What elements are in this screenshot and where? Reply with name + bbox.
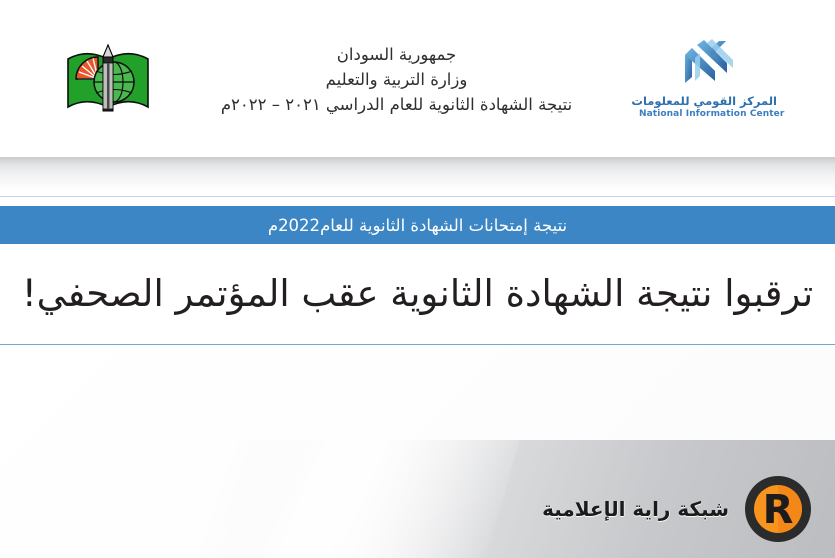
watermark: R شبكة راية الإعلامية [542,474,813,544]
watermark-strip: R شبكة راية الإعلامية [0,440,835,558]
header-title-line2: وزارة التربية والتعليم [164,67,629,92]
banner-text: نتيجة إمتحانات الشهادة الثانوية للعام202… [268,216,567,235]
thin-blue-rule [0,196,835,197]
raya-r-circle-logo-icon: R [743,474,813,544]
page-title: ترقبوا نتيجة الشهادة الثانوية عقب المؤتم… [22,271,813,317]
result-announcement-page: جمهورية السودان وزارة التربية والتعليم ن… [0,0,835,558]
nic-label-english: National Information Center [639,109,777,120]
content-area: R شبكة راية الإعلامية [0,345,835,558]
nic-label-arabic: المركز القومي للمعلومات [639,95,777,108]
header-title-line1: جمهورية السودان [164,42,629,67]
header-title-block: جمهورية السودان وزارة التربية والتعليم ن… [154,42,639,117]
raya-badge-letter: R [763,487,794,533]
site-header: جمهورية السودان وزارة التربية والتعليم ن… [0,0,835,157]
nic-chevron-icon [675,37,741,89]
watermark-sheen [122,440,530,558]
page-banner: نتيجة إمتحانات الشهادة الثانوية للعام202… [0,206,835,244]
header-gradient-separator [0,157,835,191]
national-information-center-logo: المركز القومي للمعلومات National Informa… [639,37,777,119]
header-title-line3: نتيجة الشهادة الثانوية للعام الدراسي ٢٠٢… [164,92,629,117]
headline-section: ترقبوا نتيجة الشهادة الثانوية عقب المؤتم… [0,254,835,334]
ministry-of-education-emblem-icon [62,37,154,121]
watermark-text: شبكة راية الإعلامية [542,497,729,521]
